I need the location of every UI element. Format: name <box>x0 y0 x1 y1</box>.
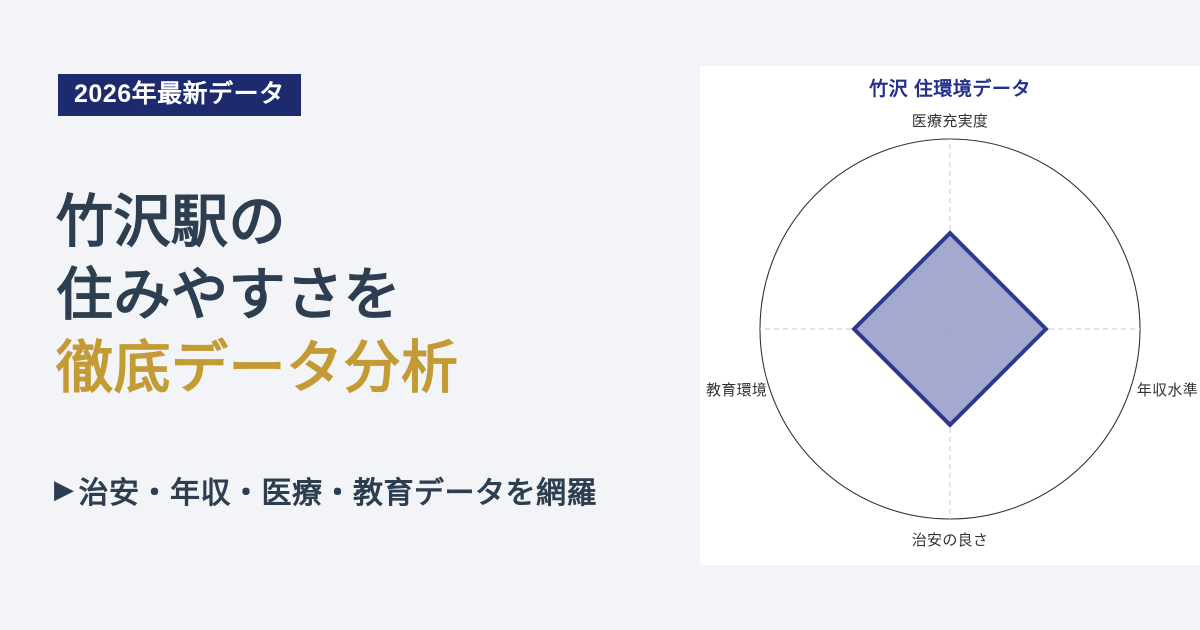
radar-axis-label-left: 教育環境 <box>706 379 767 400</box>
poster-canvas: 2026年最新データ 竹沢駅の 住みやすさを 徹底データ分析 ▶ 治安・年収・医… <box>0 0 1200 630</box>
radar-axis-label-right: 年収水準 <box>1137 379 1198 400</box>
subtitle: ▶ 治安・年収・医療・教育データを網羅 <box>54 468 597 512</box>
radar-chart <box>700 66 1200 565</box>
play-triangle-icon: ▶ <box>54 476 75 502</box>
headline-line-1: 竹沢駅の <box>56 186 686 259</box>
headline-column: 2026年最新データ 竹沢駅の 住みやすさを 徹底データ分析 ▶ 治安・年収・医… <box>0 0 700 630</box>
page-title: 竹沢駅の 住みやすさを 徹底データ分析 <box>56 186 686 405</box>
radar-axis-label-bottom: 治安の良さ <box>700 529 1200 550</box>
chart-card: 竹沢 住環境データ 医療充実度 年収水準 治安の良さ 教育環境 <box>700 66 1200 565</box>
subtitle-text: 治安・年収・医療・教育データを網羅 <box>79 468 598 512</box>
headline-line-3: 徹底データ分析 <box>56 332 686 405</box>
status-badge: 2026年最新データ <box>58 74 301 116</box>
radar-series-polygon <box>854 233 1046 425</box>
radar-axis-label-top: 医療充実度 <box>700 110 1200 131</box>
headline-line-2: 住みやすさを <box>56 259 686 332</box>
